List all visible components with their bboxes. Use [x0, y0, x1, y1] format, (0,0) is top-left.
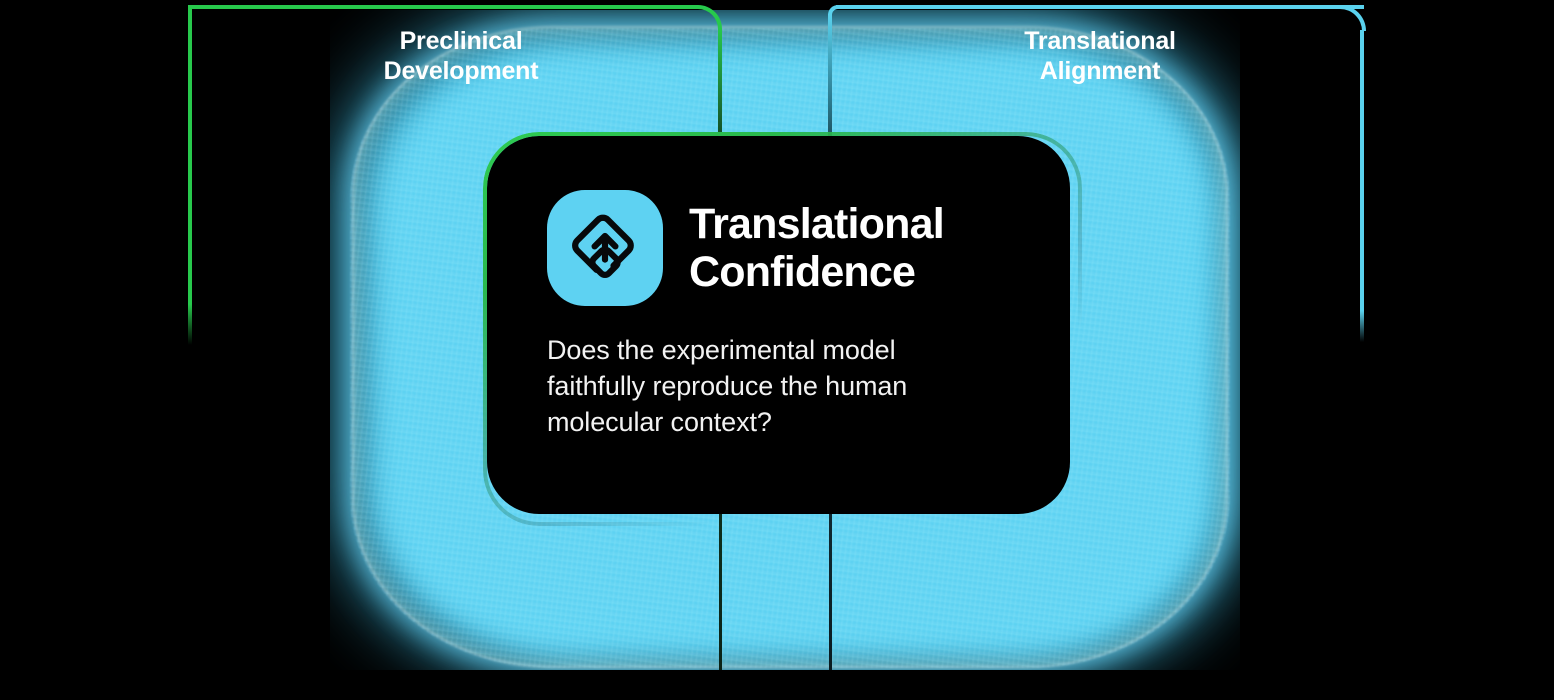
bracket-horizontal-line: [190, 5, 698, 9]
translational-confidence-icon: [547, 190, 663, 306]
phase-label-translational-alignment: Translational Alignment: [925, 26, 1275, 86]
phase-label-preclinical-development: Preclinical Development: [296, 26, 626, 86]
translational-confidence-card[interactable]: Translational Confidence Does the experi…: [487, 136, 1070, 514]
card-description: Does the experimental model faithfully r…: [547, 332, 997, 440]
bracket-corner-right: [1340, 5, 1366, 31]
bracket-horizontal-line: [836, 5, 1364, 9]
slide-canvas: Preclinical Development Translational Al…: [0, 0, 1554, 700]
card-header: Translational Confidence: [547, 190, 1010, 306]
bracket-left-leg: [828, 14, 832, 152]
diamond-arrow-glyph: [568, 211, 642, 285]
bracket-right-leg: [1360, 30, 1364, 342]
bracket-corner-left: [828, 5, 840, 17]
bracket-corner-right: [698, 5, 722, 29]
card-title: Translational Confidence: [689, 200, 944, 296]
bracket-left-leg: [188, 5, 192, 345]
